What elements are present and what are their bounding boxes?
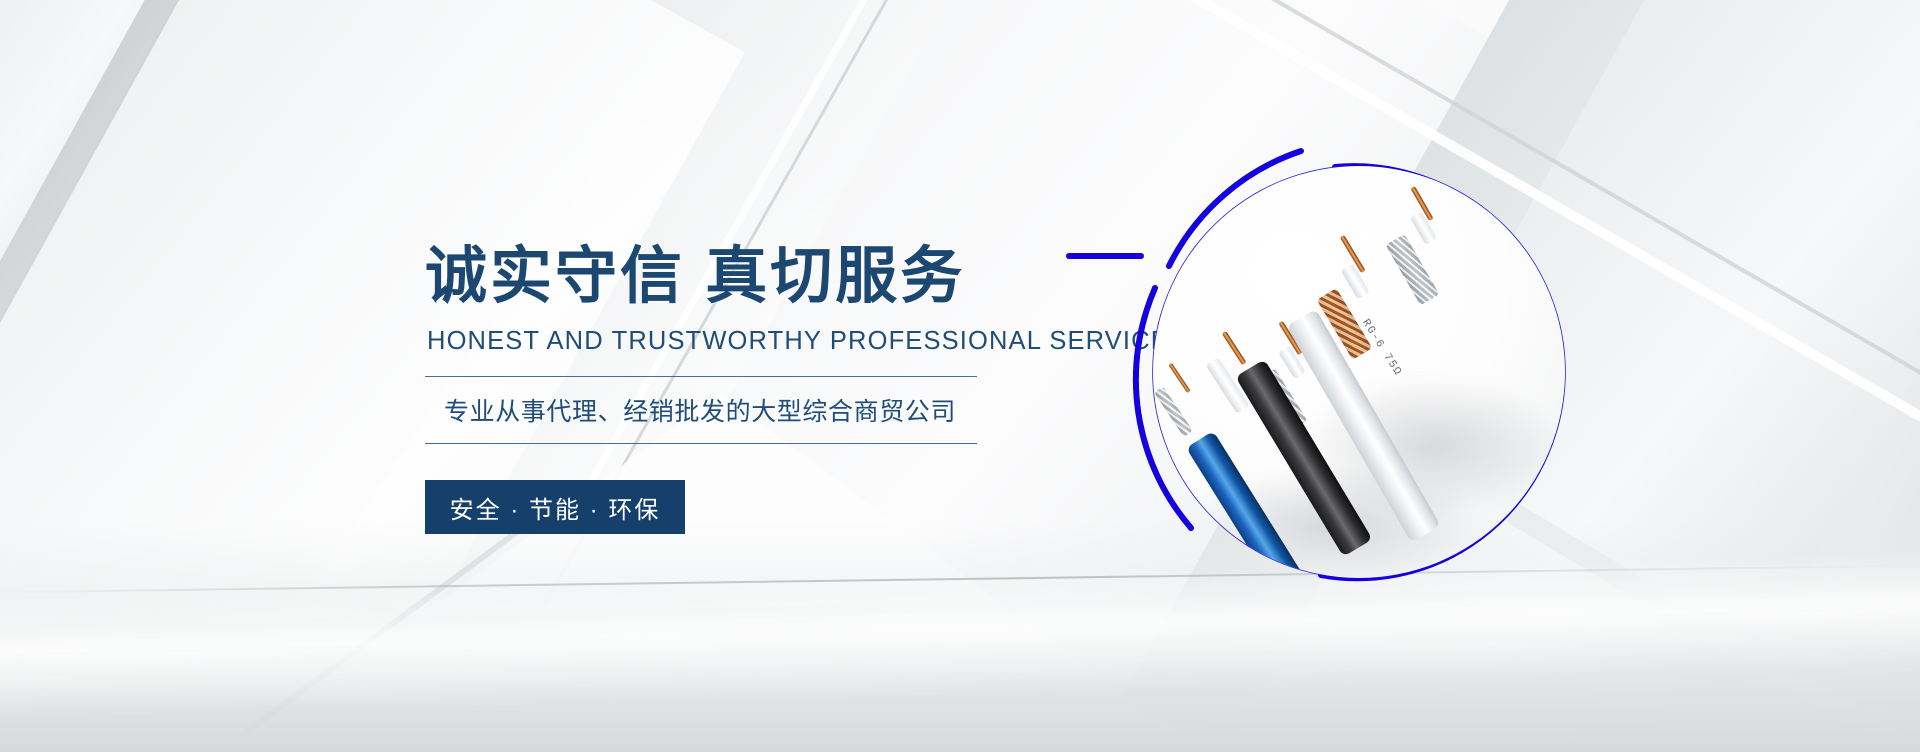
clear-cable-conductor	[1168, 363, 1190, 393]
banner-text-block: 诚实守信 真切服务 HONEST AND TRUSTWORTHY PROFESS…	[425, 246, 1065, 534]
divider-bottom	[425, 443, 977, 444]
banner-headline: 诚实守信 真切服务	[425, 246, 1065, 308]
features-badge-label: 安全 · 节能 · 环保	[450, 490, 661, 525]
black-cable-dielectric	[1340, 263, 1370, 299]
divider-top	[425, 376, 977, 377]
hero-banner: 诚实守信 真切服务 HONEST AND TRUSTWORTHY PROFESS…	[0, 0, 1920, 752]
cable-tip-highlight	[1421, 174, 1447, 200]
arrow-right-icon	[685, 480, 713, 534]
features-badge: 安全 · 节能 · 环保	[425, 480, 685, 534]
blue-circle-frame: RG-6 75Ω	[1125, 138, 1593, 606]
cable-tip-highlight	[1353, 224, 1377, 248]
banner-subtitle-english: HONEST AND TRUSTWORTHY PROFESSIONAL SERV…	[427, 327, 1065, 356]
coaxial-cable-bundle-photo: RG-6 75Ω	[1153, 166, 1565, 578]
white-cable-dielectric	[1410, 211, 1437, 245]
white-cable-foil	[1385, 234, 1439, 306]
braided-cable-conductor	[1222, 331, 1247, 366]
banner-subtitle-chinese: 专业从事代理、经销批发的大型综合商贸公司	[444, 392, 1065, 428]
